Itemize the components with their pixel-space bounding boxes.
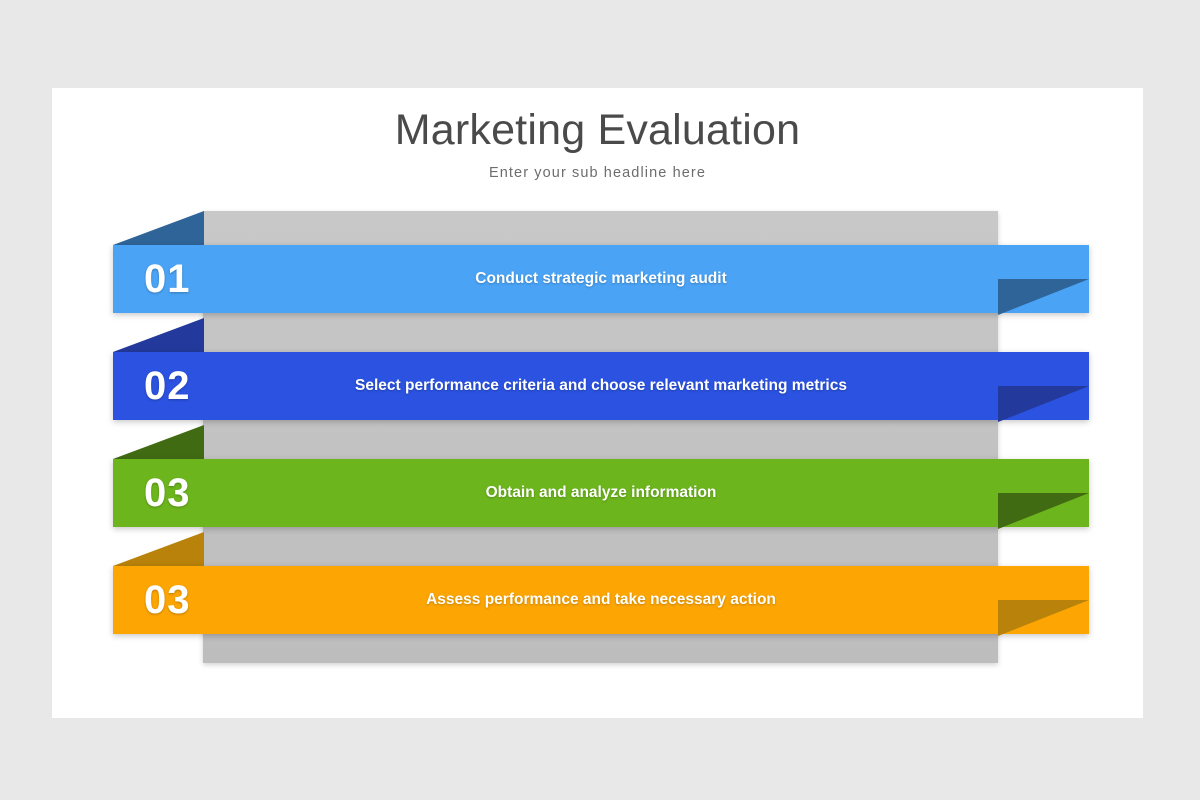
ribbon-fold-left: [113, 318, 204, 352]
ribbon-step-number: 01: [144, 259, 191, 299]
ribbon-bar[interactable]: 03Assess performance and take necessary …: [113, 566, 1089, 634]
ribbon-bar[interactable]: 03Obtain and analyze information: [113, 459, 1089, 527]
ribbon-bar[interactable]: 01Conduct strategic marketing audit: [113, 245, 1089, 313]
ribbon-fold-left: [113, 532, 204, 566]
ribbon-step-number: 02: [144, 366, 191, 406]
ribbon-fold-left: [113, 425, 204, 459]
ribbon-row[interactable]: 03Obtain and analyze information: [52, 425, 1143, 529]
ribbon-bar[interactable]: 02Select performance criteria and choose…: [113, 352, 1089, 420]
ribbon-row[interactable]: 01Conduct strategic marketing audit: [52, 211, 1143, 315]
ribbon-step-label: Conduct strategic marketing audit: [113, 268, 1089, 290]
ribbon-step-number: 03: [144, 473, 191, 513]
ribbon-row[interactable]: 03Assess performance and take necessary …: [52, 532, 1143, 636]
ribbon-step-label: Select performance criteria and choose r…: [113, 375, 1089, 397]
page-title: Marketing Evaluation: [52, 108, 1143, 153]
ribbon-step-label: Assess performance and take necessary ac…: [113, 589, 1089, 611]
title-block: Marketing Evaluation Enter your sub head…: [52, 108, 1143, 181]
ribbon-fold-left: [113, 211, 204, 245]
ribbon-step-label: Obtain and analyze information: [113, 482, 1089, 504]
page-subtitle: Enter your sub headline here: [52, 165, 1143, 181]
ribbon-step-number: 03: [144, 580, 191, 620]
ribbon-row[interactable]: 02Select performance criteria and choose…: [52, 318, 1143, 422]
slide-card: Marketing Evaluation Enter your sub head…: [52, 88, 1143, 718]
